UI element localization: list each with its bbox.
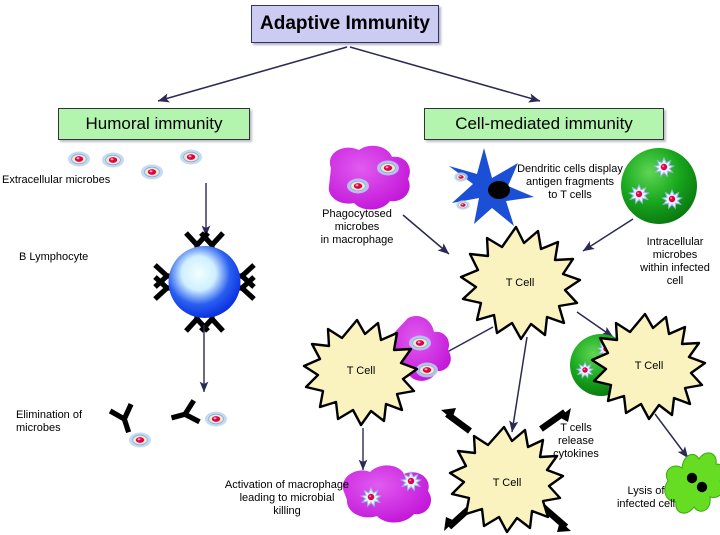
t-cell-body [461,227,580,339]
macrophage-body [329,146,410,210]
antigen-fragment-icon [454,172,468,181]
free-antibody-group [110,401,227,448]
microbe-icon [347,179,369,194]
branch-label-cell-mediated: Cell-mediated immunity [424,108,664,140]
arrow-tcell-to-cytokines [512,337,527,432]
arrow-infectedcell-to-tcell [583,219,633,251]
label-elimination-of-microbes: Elimination of microbes [16,409,82,435]
microbe-icon [129,433,151,448]
microbe-icon [180,150,202,165]
macrophage-with-microbes [329,146,410,210]
microbe-icon [68,152,90,167]
label-b-lymphocyte: B Lymphocyte [19,251,88,264]
immunity-diagram-canvas [0,0,720,535]
page-title: Adaptive Immunity [251,5,439,43]
t-cell-macrophage-pair [304,316,451,425]
label-extracellular-microbes: Extracellular microbes [2,174,110,187]
arrow-title-to-cellmediated [350,47,540,101]
label-phagocytosed-microbes: Phagocytosed microbes in macrophage [302,208,412,247]
t-cell-body [592,314,705,419]
arrow-tcell-to-lysis [655,414,688,458]
antibody-icon [169,401,200,429]
microbe-icon [377,161,399,176]
b-cell-body [169,246,241,318]
label-lysis-of-infected-cell: Lysis of infected cell [600,485,692,511]
antibody-icon [110,404,139,436]
lysed-cell-dot [687,473,697,483]
microbe-icon [205,412,227,427]
label-intracellular-microbes: Intracellular microbes within infected c… [631,236,719,288]
branch-label-humoral: Humoral immunity [58,108,250,140]
t-cell-central [461,227,580,339]
microbe-icon [102,153,124,168]
label-cytokine-release: T cells release cytokines [540,422,612,461]
lysed-cell-dot [697,482,707,492]
microbe-icon [409,336,431,351]
label-activation-of-macrophage: Activation of macrophage leading to micr… [207,479,367,518]
infected-cell-tcell-pair [570,314,705,419]
b-lymphocyte-cell [155,233,254,331]
label-dendritic-cells: Dendritic cells display antigen fragment… [500,163,640,202]
arrow-title-to-humoral [158,47,347,101]
arrow-tcell-to-infectedcell [577,312,613,337]
microbe-icon [416,363,438,378]
microbe-icon [141,165,163,180]
antigen-fragment-icon [456,200,470,209]
